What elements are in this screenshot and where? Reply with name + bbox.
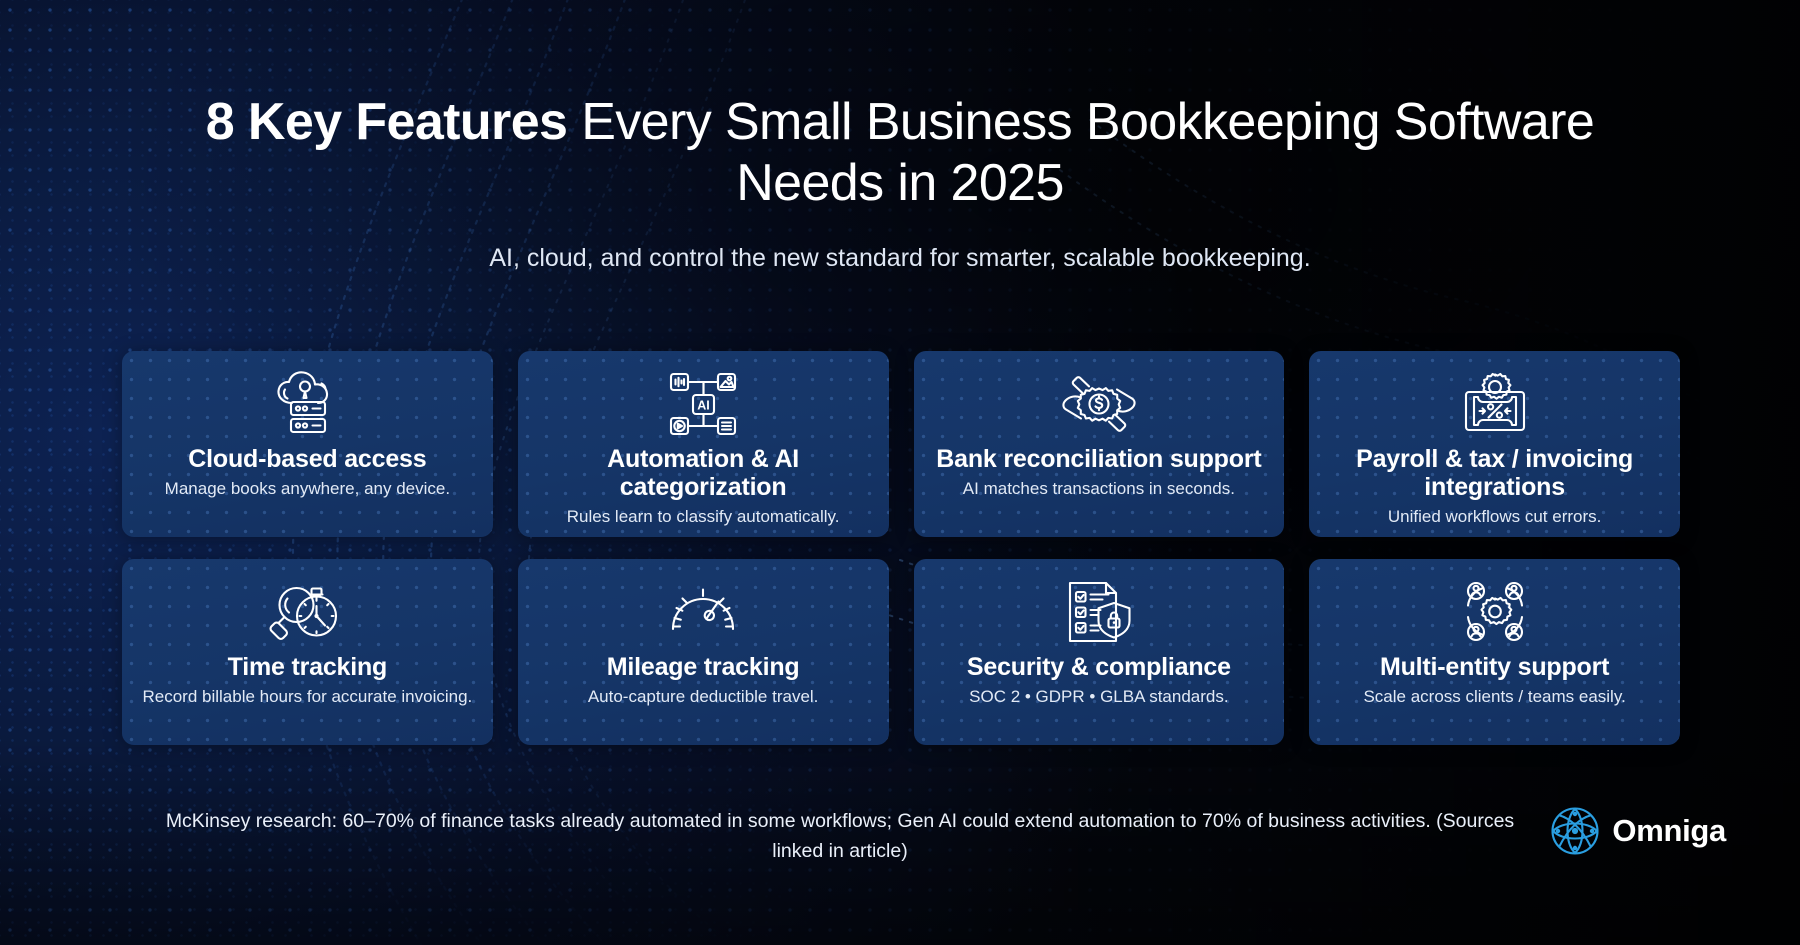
page-title: 8 Key Features Every Small Business Book…	[0, 92, 1800, 214]
card-title: Payroll & tax / invoicing integrations	[1323, 445, 1666, 501]
card-description: Unified workflows cut errors.	[1388, 506, 1602, 528]
magnifier-stopwatch-icon	[269, 575, 345, 649]
card-description: SOC 2 • GDPR • GLBA standards.	[969, 686, 1228, 708]
source-footnote: McKinsey research: 60–70% of finance tas…	[160, 806, 1520, 866]
card-title: Security & compliance	[967, 653, 1231, 681]
card-title: Bank reconciliation support	[936, 445, 1261, 473]
speedometer-gauge-icon	[664, 575, 742, 649]
checklist-shield-lock-icon	[1062, 575, 1136, 649]
infographic-poster: 8 Key Features Every Small Business Book…	[0, 0, 1800, 945]
card-description: Record billable hours for accurate invoi…	[142, 686, 472, 708]
feature-card-bank-reconciliation-support[interactable]: Bank reconciliation support AI matches t…	[914, 351, 1285, 537]
feature-card-grid: Cloud-based access Manage books anywhere…	[122, 351, 1680, 745]
page-title-rest: Every Small Business Bookkeeping Softwar…	[567, 93, 1594, 212]
feature-card-multi-entity-support[interactable]: Multi-entity support Scale across client…	[1309, 559, 1680, 745]
card-description: Rules learn to classify automatically.	[567, 506, 840, 528]
feature-card-automation-ai-categorization[interactable]: AI	[518, 351, 889, 537]
card-title: Mileage tracking	[607, 653, 800, 681]
cloud-lock-server-icon	[268, 367, 346, 441]
feature-card-mileage-tracking[interactable]: Mileage tracking Auto-capture deductible…	[518, 559, 889, 745]
brand-lockup[interactable]: Omniga	[1550, 806, 1726, 856]
feature-card-security-compliance[interactable]: Security & compliance SOC 2 • GDPR • GLB…	[914, 559, 1285, 745]
feature-card-time-tracking[interactable]: Time tracking Record billable hours for …	[122, 559, 493, 745]
card-title: Cloud-based access	[188, 445, 426, 473]
card-title: Time tracking	[228, 653, 388, 681]
card-description: Scale across clients / teams easily.	[1363, 686, 1625, 708]
ai-network-nodes-icon: AI	[667, 367, 739, 441]
card-description: Manage books anywhere, any device.	[165, 478, 450, 500]
omniga-globe-logo	[1550, 806, 1600, 856]
page-title-strong: 8 Key Features	[206, 93, 568, 151]
card-title: Automation & AI categorization	[532, 445, 875, 501]
feature-card-cloud-based-access[interactable]: Cloud-based access Manage books anywhere…	[122, 351, 493, 537]
feature-card-payroll-tax-invoicing-integrations[interactable]: Payroll & tax / invoicing integrations U…	[1309, 351, 1680, 537]
users-gear-network-icon	[1459, 575, 1531, 649]
svg-text:AI: AI	[697, 398, 710, 412]
card-description: AI matches transactions in seconds.	[963, 478, 1235, 500]
page-subtitle: AI, cloud, and control the new standard …	[0, 241, 1800, 275]
brand-name: Omniga	[1612, 813, 1726, 849]
card-description: Auto-capture deductible travel.	[588, 686, 819, 708]
banknote-percent-gear-icon	[1457, 367, 1533, 441]
card-title: Multi-entity support	[1380, 653, 1609, 681]
hands-gear-dollar-icon	[1059, 367, 1139, 441]
